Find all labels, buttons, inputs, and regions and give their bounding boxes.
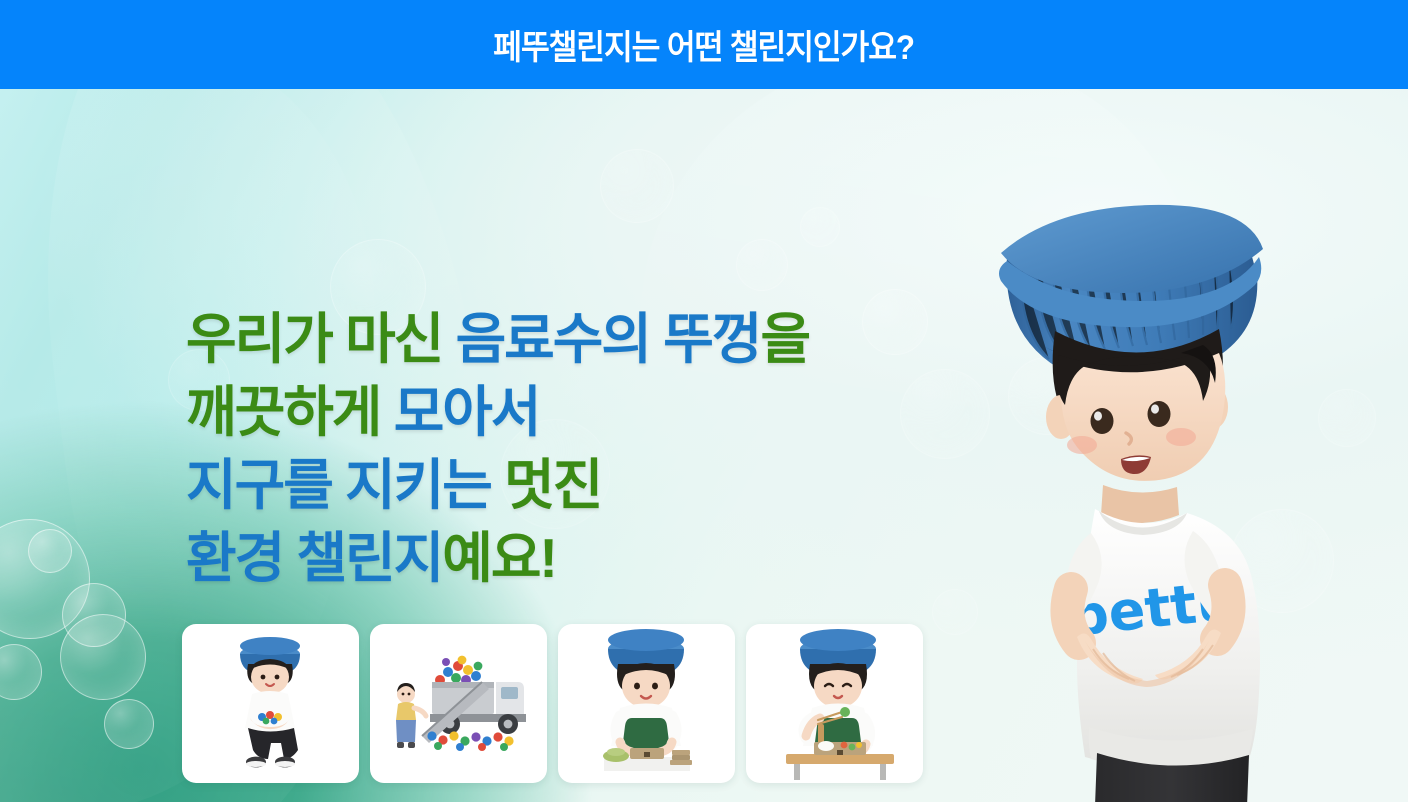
boy-using-products-illustration (746, 624, 923, 783)
bubble-decoration (736, 239, 788, 291)
headline-seg: 환경 챌린지 (186, 527, 442, 589)
thumbnail-card-truck-collecting-caps[interactable] (370, 624, 547, 783)
bubble-decoration (62, 583, 126, 647)
headline-seg: 지구를 지키는 (186, 454, 504, 516)
headline-seg: 모아서 (394, 381, 540, 443)
bubble-decoration (862, 289, 928, 355)
bubble-decoration (104, 699, 154, 749)
headline-seg: 깨끗하게 (186, 381, 394, 443)
thumbnail-card-boy-holding-bottle-caps[interactable] (182, 624, 359, 783)
headline-line-1: 우리가 마신 음료수의 뚜껑을 (186, 303, 809, 376)
headline-line-3: 지구를 지키는 멋진 (186, 449, 809, 522)
boy-holding-bottle-caps-illustration (182, 624, 359, 783)
headline-seg: 우리가 마신 (186, 308, 456, 370)
headline-seg: 을 (760, 308, 809, 370)
hero-stage: 우리가 마신 음료수의 뚜껑을 깨끗하게 모아서 지구를 지키는 멋진 환경 챌… (0, 89, 1408, 802)
bubble-decoration (28, 529, 72, 573)
bubble-decoration (900, 369, 990, 459)
bubble-decoration (600, 149, 674, 223)
bubble-decoration (932, 589, 978, 635)
headline-line-4: 환경 챌린지예요! (186, 522, 809, 595)
promo-page: 페뚜챌린지는 어떤 챌린지인가요? 우리가 마신 음료 (0, 0, 1408, 802)
headline-seg: 예요! (442, 527, 556, 589)
thumbnail-card-boy-making-products[interactable] (558, 624, 735, 783)
page-title: 페뚜챌린지는 어떤 챌린지인가요? (494, 20, 915, 69)
thumbnail-card-boy-using-products[interactable] (746, 624, 923, 783)
bettu-character-illustration: bettu (985, 149, 1385, 802)
headline: 우리가 마신 음료수의 뚜껑을 깨끗하게 모아서 지구를 지키는 멋진 환경 챌… (186, 303, 809, 595)
thumbnail-row (182, 624, 923, 783)
mascot-bettu: bettu (985, 149, 1385, 802)
truck-collecting-caps-illustration (370, 624, 547, 783)
headline-seg: 음료수의 뚜껑 (456, 308, 761, 370)
bubble-decoration (800, 207, 840, 247)
headline-line-2: 깨끗하게 모아서 (186, 376, 809, 449)
header-bar: 페뚜챌린지는 어떤 챌린지인가요? (0, 0, 1408, 89)
headline-seg: 멋진 (504, 454, 601, 516)
boy-making-products-illustration (558, 624, 735, 783)
